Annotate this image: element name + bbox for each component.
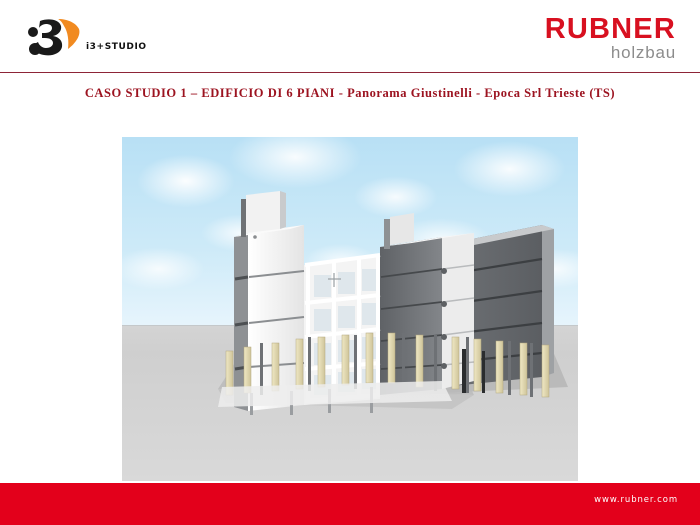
page-title: CASO STUDIO 1 – EDIFICIO DI 6 PIANI - Pa… (0, 86, 700, 101)
slide-header: i3+STUDIO RUBNER holzbau (0, 0, 700, 73)
slide-footer: www.rubner.com (0, 483, 700, 525)
brand-logo: RUBNER holzbau (508, 14, 676, 62)
architectural-render-image (122, 137, 578, 481)
slide: i3+STUDIO RUBNER holzbau CASO STUDIO 1 –… (0, 0, 700, 525)
brand-logo-subtitle: holzbau (508, 44, 676, 62)
brand-logo-word: RUBNER (508, 14, 676, 44)
studio-logo-label: i3+STUDIO (86, 42, 147, 52)
studio-logo: i3+STUDIO (24, 16, 159, 61)
footer-website-url[interactable]: www.rubner.com (594, 495, 678, 505)
render-building-model (122, 137, 578, 481)
i3-studio-3-swoosh-mark (24, 16, 86, 58)
header-divider (0, 72, 700, 73)
